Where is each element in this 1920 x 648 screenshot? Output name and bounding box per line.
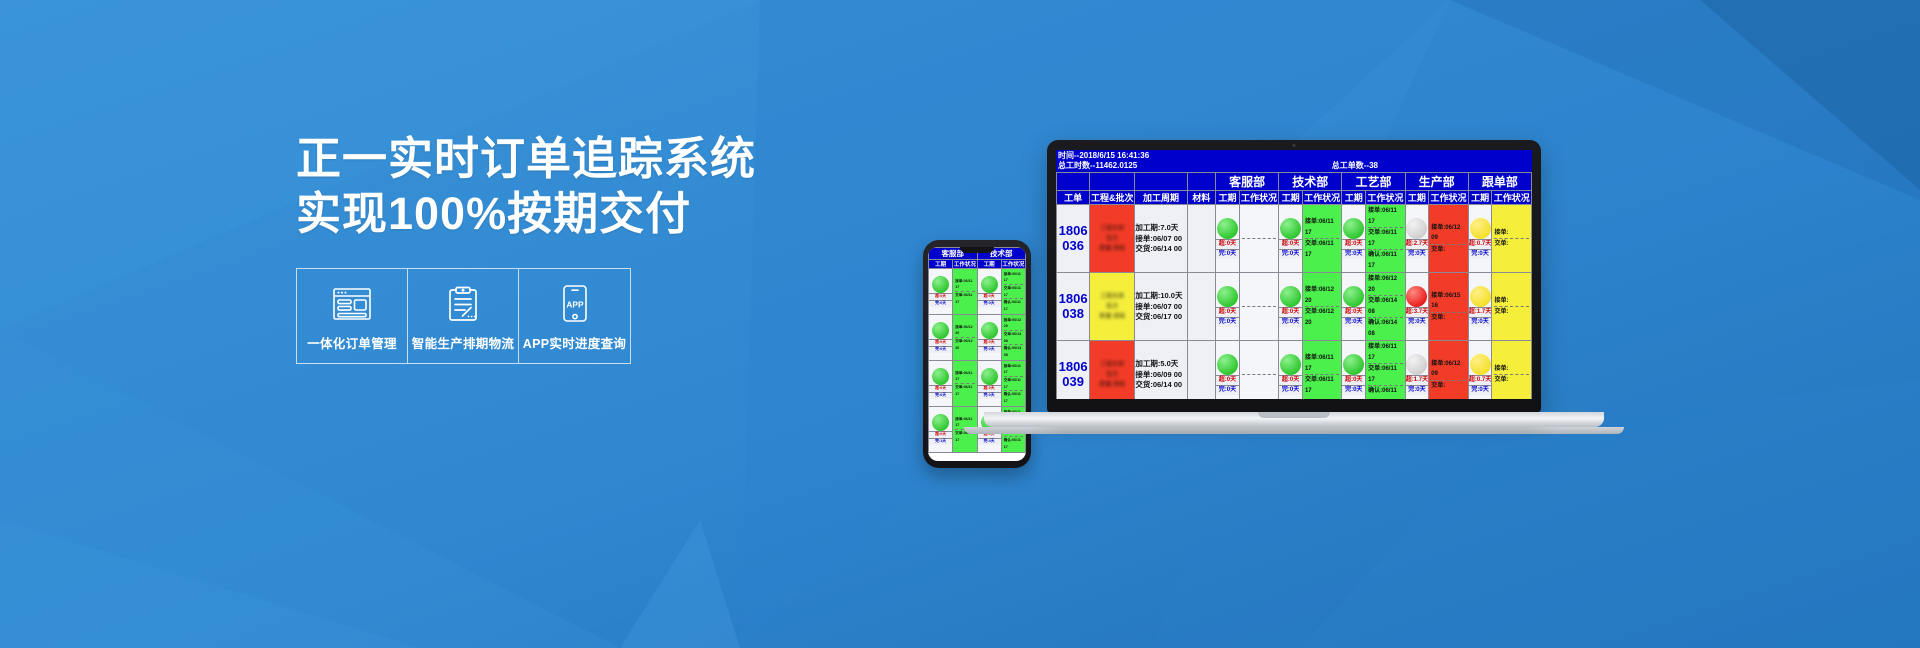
- topbar-total-orders: 总工单数--38: [1332, 161, 1530, 171]
- overdue-label: 超:0天: [1342, 239, 1365, 249]
- status-log: [1240, 295, 1278, 319]
- status-log: [1240, 363, 1278, 387]
- dept-status-cell-生产部[interactable]: 接单:06/12 09交单:: [1429, 341, 1468, 399]
- phone-complete-label: 完:0天: [978, 346, 1001, 353]
- cycle-line: 交货:06/14 00: [1135, 380, 1186, 391]
- phone-overdue-label: 超:0天: [978, 385, 1001, 392]
- log-line: 接单:06/11 17: [955, 278, 974, 292]
- project-blurred-text: 工程名称批次数量 规格: [1090, 224, 1134, 255]
- log-line: 接单:: [1494, 364, 1529, 376]
- status-indicator: [1342, 354, 1365, 375]
- log-line: 交单:06/14 08: [1368, 296, 1402, 318]
- duration-stack: 超:1.7天完:0天: [1406, 354, 1429, 395]
- phone-status-indicator: [978, 322, 1001, 339]
- status-dot-green: [1343, 354, 1364, 375]
- log-line: 接单:06/12 09: [1431, 223, 1465, 245]
- status-dot-grey: [1406, 218, 1427, 239]
- laptop-base: [984, 412, 1604, 427]
- processing-cycle-cell: 加工期:5.0天接单:06/09 00交货:06/14 00: [1135, 341, 1187, 399]
- duration-stack: 超:0天完:0天: [1342, 286, 1365, 327]
- dept-header-客服部: 客服部: [1216, 173, 1279, 191]
- status-indicator: [1216, 286, 1239, 307]
- log-line: 交单:06/11 17: [1004, 377, 1023, 391]
- phone-duration-cell-客服部[interactable]: 超:0天完:0天: [929, 269, 953, 315]
- overdue-label: 超:0.7天: [1469, 239, 1492, 249]
- sub-header-工作状况: 工作状况: [1302, 191, 1341, 205]
- dept-status-cell-技术部[interactable]: 接单:06/11 17交单:06/11 17: [1302, 341, 1341, 399]
- dept-duration-cell-技术部[interactable]: 超:0天完:0天: [1279, 205, 1303, 273]
- phone-app-icon: APP: [519, 283, 630, 325]
- sub-header-工作状况: 工作状况: [1429, 191, 1468, 205]
- sub-header-工作状况: 工作状况: [1366, 191, 1405, 205]
- base-col-spacer: [1057, 173, 1090, 191]
- dept-status-cell-客服部[interactable]: [1239, 273, 1278, 341]
- phone-overdue-label: 超:0天: [929, 385, 952, 392]
- log-line: [1242, 375, 1276, 386]
- status-indicator: [1406, 354, 1429, 375]
- phone-overdue-label: 超:0天: [978, 293, 1001, 300]
- complete-label: 完:0天: [1216, 249, 1239, 259]
- phone-duration-cell-技术部[interactable]: 超:0天完:0天: [977, 315, 1001, 361]
- status-log: 接单:交单:: [1492, 363, 1531, 387]
- phone-status-log: 接单:06/11 17交单:06/11 17确认:06/11 17: [1002, 362, 1025, 406]
- complete-label: 完:0天: [1406, 317, 1429, 327]
- status-indicator: [1469, 286, 1492, 307]
- complete-label: 完:0天: [1469, 317, 1492, 327]
- status-log: 接单:06/12 09交单:: [1429, 358, 1467, 393]
- topbar-total-hours: 总工时数--11462.0125: [1058, 161, 1332, 171]
- phone-status-cell-客服部[interactable]: 接单:06/11 17交单:06/11 17: [953, 269, 977, 315]
- dept-duration-cell-技术部[interactable]: 超:0天完:0天: [1279, 273, 1303, 341]
- phone-status-cell-技术部[interactable]: 接单:06/11 17交单:06/11 17确认:06/11 17: [1001, 269, 1025, 315]
- project-blurred-text: 工程名称批次数量 规格: [1090, 360, 1134, 391]
- phone-overdue-label: 超:0天: [929, 339, 952, 346]
- log-line: [1242, 239, 1276, 250]
- duration-stack: 超:0.7天完:0天: [1469, 218, 1492, 259]
- status-indicator: [1279, 286, 1302, 307]
- phone-duration-cell-客服部[interactable]: 超:0天完:0天: [929, 361, 953, 407]
- phone-status-cell-技术部[interactable]: 接单:06/12 20交单:06/14 08确认:06/14 08: [1001, 315, 1025, 361]
- dept-status-cell-跟单部[interactable]: 接单:交单:: [1492, 341, 1532, 399]
- status-log: 接单:06/11 17交单:06/11 17确认:06/11 17: [1366, 205, 1404, 272]
- laptop-base-notch: [1258, 412, 1330, 418]
- log-line: 接单:06/12 20: [1368, 274, 1402, 296]
- phone-complete-label: 完:0天: [929, 346, 952, 353]
- overdue-label: 超:1.7天: [1469, 307, 1492, 317]
- order-no-line: 1806: [1057, 224, 1089, 239]
- status-dot-green: [1280, 218, 1301, 239]
- duration-stack: 超:0天完:0天: [1342, 218, 1365, 259]
- laptop-mockup: 时间--2018/6/15 16:41:36 总工时数--11462.0125 …: [1047, 140, 1624, 434]
- overdue-label: 超:1.7天: [1406, 375, 1429, 385]
- feature-label: 智能生产排期物流: [408, 333, 518, 352]
- status-dot-green: [981, 322, 998, 339]
- phone-duration-stack: 超:0天完:0天: [929, 322, 952, 352]
- phone-duration-stack: 超:0天完:0天: [978, 276, 1001, 306]
- dept-status-cell-客服部[interactable]: [1239, 205, 1278, 273]
- log-line: 接单:06/11 17: [1368, 206, 1402, 228]
- col-header-材料: 材料: [1187, 191, 1215, 205]
- material-cell: [1187, 341, 1215, 399]
- device-mockups: 客服部 技术部 工期 工作状况 工期 工作状况 超:0天完:0天接单:06/11…: [0, 0, 1920, 648]
- col-header-工单: 工单: [1057, 191, 1090, 205]
- phone-status-cell-技术部[interactable]: 接单:06/11 17交单:06/11 17确认:06/11 17: [1001, 361, 1025, 407]
- log-line: 接单:06/12 09: [1431, 359, 1465, 381]
- duration-stack: 超:0天完:0天: [1216, 218, 1239, 259]
- phone-sub-header-duration: 工期: [977, 260, 1001, 269]
- feature-label: 一体化订单管理: [297, 333, 407, 352]
- phone-complete-label: 完:0天: [929, 300, 952, 307]
- phone-status-cell-客服部[interactable]: 接单:06/12 20交单:06/12 20: [953, 315, 977, 361]
- log-line: 交单:06/11 17: [1305, 239, 1339, 260]
- log-line: 接单:06/12 20: [1004, 317, 1023, 331]
- phone-status-indicator: [929, 368, 952, 385]
- status-dot-green: [1217, 354, 1238, 375]
- project-batch-cell: 工程名称批次数量 规格: [1090, 273, 1135, 341]
- project-batch-cell: 工程名称批次数量 规格: [1090, 205, 1135, 273]
- project-batch-cell: 工程名称批次数量 规格: [1090, 341, 1135, 399]
- status-indicator: [1469, 218, 1492, 239]
- dept-header-生产部: 生产部: [1405, 173, 1468, 191]
- status-log: 接单:06/12 20交单:06/12 20: [1303, 284, 1341, 329]
- log-line: 接单:06/15 16: [1431, 291, 1465, 313]
- overdue-label: 超:0天: [1342, 375, 1365, 385]
- topbar-time: 时间--2018/6/15 16:41:36: [1058, 151, 1332, 161]
- phone-notch: [960, 247, 994, 253]
- status-indicator: [1469, 354, 1492, 375]
- dashboard-table-body: 1806036工程名称批次数量 规格加工期:7.0天接单:06/07 00交货:…: [1057, 205, 1532, 399]
- phone-overdue-label: 超:0天: [929, 293, 952, 300]
- dept-duration-cell-跟单部[interactable]: 超:0.7天完:0天: [1468, 341, 1492, 399]
- status-indicator: [1406, 218, 1429, 239]
- status-dot-green: [981, 368, 998, 385]
- log-line: 确认:06/11 17: [1368, 250, 1402, 271]
- feature-production-logistics[interactable]: 智能生产排期物流: [408, 269, 519, 363]
- svg-text:APP: APP: [566, 300, 584, 310]
- order-number-cell: 1806038: [1057, 273, 1090, 341]
- complete-label: 完:0天: [1279, 385, 1302, 395]
- status-log: 接单:06/11 17交单:06/11 17确认:06/11 17: [1366, 341, 1404, 399]
- log-line: 交单:: [1494, 375, 1529, 386]
- phone-status-indicator: [929, 276, 952, 293]
- phone-table-row[interactable]: 超:0天完:0天接单:06/12 20交单:06/12 20超:0天完:0天接单…: [929, 315, 1026, 361]
- table-row[interactable]: 1806036工程名称批次数量 规格加工期:7.0天接单:06/07 00交货:…: [1057, 205, 1532, 273]
- cycle-line: 接单:06/07 00: [1135, 302, 1186, 313]
- dept-status-cell-生产部[interactable]: 接单:06/15 16交单:: [1429, 273, 1468, 341]
- hero-copy: 正一实时订单追踪系统 实现100%按期交付 一体化订单管理: [296, 132, 916, 364]
- log-line: 确认:06/14 08: [1004, 345, 1023, 358]
- material-cell: [1187, 273, 1215, 341]
- table-row[interactable]: 1806039工程名称批次数量 规格加工期:5.0天接单:06/09 00交货:…: [1057, 341, 1532, 399]
- phone-duration-stack: 超:0天完:0天: [978, 322, 1001, 352]
- status-dot-yellow: [1470, 218, 1491, 239]
- complete-label: 完:0天: [1406, 249, 1429, 259]
- status-log: 接单:06/11 17交单:06/11 17: [1303, 216, 1341, 261]
- log-line: 确认:06/11 17: [1368, 386, 1402, 399]
- phone-duration-cell-技术部[interactable]: 超:0天完:0天: [977, 269, 1001, 315]
- status-dot-green: [932, 368, 949, 385]
- phone-sub-header-row: 工期 工作状况 工期 工作状况: [929, 260, 1026, 269]
- dept-duration-cell-技术部[interactable]: 超:0天完:0天: [1279, 341, 1303, 399]
- feature-label: APP实时进度查询: [519, 333, 630, 352]
- dept-duration-cell-跟单部[interactable]: 超:0.7天完:0天: [1468, 205, 1492, 273]
- dept-status-cell-跟单部[interactable]: 接单:交单:: [1492, 205, 1532, 273]
- dept-duration-cell-客服部[interactable]: 超:0天完:0天: [1216, 205, 1240, 273]
- status-dot-green: [932, 322, 949, 339]
- phone-duration-cell-客服部[interactable]: 超:0天完:0天: [929, 315, 953, 361]
- order-no-line: 1806: [1057, 360, 1089, 375]
- status-dot-grey: [1406, 354, 1427, 375]
- sub-header-工期: 工期: [1342, 191, 1366, 205]
- overdue-label: 超:0天: [1279, 307, 1302, 317]
- dept-status-cell-技术部[interactable]: 接单:06/12 20交单:06/12 20: [1302, 273, 1341, 341]
- log-line: 接单:06/11 17: [1305, 353, 1339, 375]
- status-dot-red: [1406, 286, 1427, 307]
- status-dot-green: [1343, 218, 1364, 239]
- status-log: 接单:06/11 17交单:06/11 17: [1303, 352, 1341, 397]
- order-no-line: 1806: [1057, 292, 1089, 307]
- status-indicator: [1216, 354, 1239, 375]
- complete-label: 完:0天: [1216, 385, 1239, 395]
- dept-duration-cell-工艺部[interactable]: 超:0天完:0天: [1342, 273, 1366, 341]
- log-line: 接单:: [1494, 296, 1529, 308]
- dept-status-cell-工艺部[interactable]: 接单:06/12 20交单:06/14 08确认:06/14 08: [1366, 273, 1405, 341]
- order-number-cell: 1806039: [1057, 341, 1090, 399]
- status-indicator: [1279, 354, 1302, 375]
- log-line: 交单:06/11 17: [1004, 285, 1023, 299]
- phone-complete-label: 完:0天: [978, 392, 1001, 399]
- dept-status-cell-客服部[interactable]: [1239, 341, 1278, 399]
- dept-header-工艺部: 工艺部: [1342, 173, 1405, 191]
- duration-stack: 超:1.7天完:0天: [1469, 286, 1492, 327]
- phone-sub-header-duration: 工期: [929, 260, 953, 269]
- status-log: 接单:交单:: [1492, 295, 1531, 319]
- log-line: 交单:06/11 17: [1368, 364, 1402, 386]
- material-cell: [1187, 205, 1215, 273]
- overdue-label: 超:0天: [1216, 239, 1239, 249]
- phone-overdue-label: 超:0天: [978, 339, 1001, 346]
- sub-header-工作状况: 工作状况: [1239, 191, 1278, 205]
- complete-label: 完:0天: [1342, 385, 1365, 395]
- phone-status-log: 接单:06/11 17交单:06/11 17确认:06/11 17: [1002, 270, 1025, 314]
- base-col-spacer: [1187, 173, 1215, 191]
- phone-duration-cell-客服部[interactable]: 超:0天完:1天: [929, 407, 953, 453]
- sub-header-工期: 工期: [1216, 191, 1240, 205]
- clipboard-pen-icon: [408, 283, 518, 325]
- log-line: [1242, 296, 1276, 308]
- duration-stack: 超:0天完:0天: [1216, 354, 1239, 395]
- status-dot-green: [932, 276, 949, 293]
- log-line: 交单:: [1494, 307, 1529, 318]
- phone-duration-stack: 超:0天完:0天: [929, 368, 952, 398]
- log-line: 接单:06/11 17: [1004, 271, 1023, 285]
- log-line: [1242, 364, 1276, 376]
- log-line: 接单:06/11 17: [955, 370, 974, 384]
- phone-status-log: 接单:06/12 20交单:06/12 20: [953, 323, 976, 353]
- dashboard-table-head: 客服部技术部工艺部生产部跟单部工单工程&批次加工周期材料工期工作状况工期工作状况…: [1057, 173, 1532, 205]
- status-dot-green: [981, 276, 998, 293]
- overdue-label: 超:0天: [1342, 307, 1365, 317]
- log-line: 接单:: [1494, 228, 1529, 240]
- col-header-工程&批次: 工程&批次: [1090, 191, 1135, 205]
- complete-label: 完:0天: [1279, 317, 1302, 327]
- complete-label: 完:0天: [1342, 249, 1365, 259]
- dept-duration-cell-生产部[interactable]: 超:1.7天完:0天: [1405, 341, 1429, 399]
- status-dot-green: [1217, 218, 1238, 239]
- phone-status-indicator: [978, 276, 1001, 293]
- log-line: 交单:06/11 17: [1368, 228, 1402, 250]
- dept-duration-cell-工艺部[interactable]: 超:0天完:0天: [1342, 341, 1366, 399]
- dept-duration-cell-工艺部[interactable]: 超:0天完:0天: [1342, 205, 1366, 273]
- phone-table-row[interactable]: 超:0天完:0天接单:06/11 17交单:06/11 17超:0天完:0天接单…: [929, 269, 1026, 315]
- dept-duration-cell-客服部[interactable]: 超:0天完:0天: [1216, 341, 1240, 399]
- complete-label: 完:0天: [1216, 317, 1239, 327]
- topbar-spacer: [1332, 151, 1530, 161]
- col-header-加工周期: 加工周期: [1135, 191, 1187, 205]
- complete-label: 完:0天: [1406, 385, 1429, 395]
- dashboard-table: 客服部技术部工艺部生产部跟单部工单工程&批次加工周期材料工期工作状况工期工作状况…: [1056, 172, 1532, 399]
- log-line: [1242, 307, 1276, 318]
- dept-duration-cell-生产部[interactable]: 超:2.7天完:0天: [1405, 205, 1429, 273]
- sub-header-row: 工单工程&批次加工周期材料工期工作状况工期工作状况工期工作状况工期工作状况工期工…: [1057, 191, 1532, 205]
- status-dot-yellow: [1470, 286, 1491, 307]
- headline-line-2: 实现100%按期交付: [296, 187, 916, 242]
- cycle-line: 加工期:5.0天: [1135, 359, 1186, 370]
- phone-table-row[interactable]: 超:0天完:0天接单:06/11 17交单:06/11 17超:0天完:0天接单…: [929, 361, 1026, 407]
- table-row[interactable]: 1806038工程名称批次数量 规格加工期:10.0天接单:06/07 00交货…: [1057, 273, 1532, 341]
- phone-status-log: 接单:06/11 17交单:06/11 17: [953, 277, 976, 307]
- feature-order-management[interactable]: 一体化订单管理: [297, 269, 408, 363]
- webcam-icon: [1293, 144, 1296, 147]
- overdue-label: 超:3.7天: [1406, 307, 1429, 317]
- phone-status-indicator: [929, 322, 952, 339]
- phone-duration-stack: 超:0天完:1天: [929, 414, 952, 444]
- log-line: 确认:06/11 17: [1004, 437, 1023, 450]
- dept-duration-cell-客服部[interactable]: 超:0天完:0天: [1216, 273, 1240, 341]
- status-dot-green: [1280, 286, 1301, 307]
- complete-label: 完:0天: [1342, 317, 1365, 327]
- log-line: [1242, 228, 1276, 240]
- status-log: 接单:06/12 09交单:: [1429, 222, 1467, 257]
- log-line: 接单:06/12 20: [1305, 285, 1339, 307]
- phone-sub-header-status: 工作状况: [953, 260, 977, 269]
- dept-status-cell-跟单部[interactable]: 接单:交单:: [1492, 273, 1532, 341]
- sub-header-工期: 工期: [1468, 191, 1492, 205]
- headline-line-1: 正一实时订单追踪系统: [296, 132, 916, 187]
- laptop-lid: 时间--2018/6/15 16:41:36 总工时数--11462.0125 …: [1047, 140, 1541, 412]
- phone-status-log: 接单:06/11 17交单:06/11 17: [953, 369, 976, 399]
- cycle-line: 加工期:7.0天: [1135, 223, 1186, 234]
- duration-stack: 超:0.7天完:0天: [1469, 354, 1492, 395]
- processing-cycle-cell: 加工期:10.0天接单:06/07 00交货:06/17 00: [1135, 273, 1187, 341]
- dashboard-topbar: 时间--2018/6/15 16:41:36 总工时数--11462.0125 …: [1056, 150, 1532, 172]
- laptop-foot: [964, 427, 1624, 434]
- status-indicator: [1406, 286, 1429, 307]
- status-indicator: [1342, 286, 1365, 307]
- log-line: 接单:06/11 17: [1305, 217, 1339, 239]
- dept-duration-cell-跟单部[interactable]: 超:1.7天完:0天: [1468, 273, 1492, 341]
- complete-label: 完:0天: [1469, 385, 1492, 395]
- log-line: 确认:06/14 08: [1368, 318, 1402, 339]
- dept-header-row: 客服部技术部工艺部生产部跟单部: [1057, 173, 1532, 191]
- dept-status-cell-技术部[interactable]: 接单:06/11 17交单:06/11 17: [1302, 205, 1341, 273]
- log-line: 交单:: [1431, 313, 1465, 324]
- status-indicator: [1342, 218, 1365, 239]
- log-line: 交单:: [1431, 245, 1465, 256]
- status-log: 接单:06/12 20交单:06/14 08确认:06/14 08: [1366, 273, 1404, 340]
- log-line: 确认:06/11 17: [1004, 299, 1023, 312]
- phone-status-cell-客服部[interactable]: 接单:06/11 17交单:06/11 17: [953, 361, 977, 407]
- status-log: 接单:交单:: [1492, 227, 1531, 251]
- log-line: 接单:06/11 17: [1004, 363, 1023, 377]
- phone-complete-label: 完:0天: [978, 300, 1001, 307]
- sub-header-工期: 工期: [1405, 191, 1429, 205]
- status-dot-green: [1280, 354, 1301, 375]
- cycle-line: 接单:06/09 00: [1135, 370, 1186, 381]
- cycle-line: 交货:06/17 00: [1135, 312, 1186, 323]
- laptop-screen[interactable]: 时间--2018/6/15 16:41:36 总工时数--11462.0125 …: [1056, 150, 1532, 399]
- status-dot-green: [1343, 286, 1364, 307]
- status-dot-green: [932, 414, 949, 431]
- duration-stack: 超:0天完:0天: [1342, 354, 1365, 395]
- duration-stack: 超:0天完:0天: [1279, 218, 1302, 259]
- log-line: 交单:06/14 08: [1004, 331, 1023, 345]
- log-line: 确认:06/11 17: [1004, 391, 1023, 404]
- phone-status-indicator: [929, 414, 952, 431]
- dept-status-cell-生产部[interactable]: 接单:06/12 09交单:: [1429, 205, 1468, 273]
- phone-complete-label: 完:1天: [929, 438, 952, 445]
- log-line: 交单:06/11 17: [955, 292, 974, 305]
- overdue-label: 超:0天: [1279, 375, 1302, 385]
- dept-status-cell-工艺部[interactable]: 接单:06/11 17交单:06/11 17确认:06/11 17: [1366, 341, 1405, 399]
- overdue-label: 超:0天: [1216, 375, 1239, 385]
- order-no-line: 039: [1057, 375, 1089, 390]
- phone-overdue-label: 超:0天: [929, 431, 952, 438]
- order-no-line: 038: [1057, 307, 1089, 322]
- overdue-label: 超:0天: [1216, 307, 1239, 317]
- dept-duration-cell-生产部[interactable]: 超:3.7天完:0天: [1405, 273, 1429, 341]
- phone-duration-cell-技术部[interactable]: 超:0天完:0天: [977, 361, 1001, 407]
- status-dot-green: [1217, 286, 1238, 307]
- complete-label: 完:0天: [1279, 249, 1302, 259]
- sub-header-工作状况: 工作状况: [1492, 191, 1532, 205]
- overdue-label: 超:2.7天: [1406, 239, 1429, 249]
- phone-status-indicator: [978, 368, 1001, 385]
- dashboard-window-icon: [297, 283, 407, 325]
- phone-complete-label: 完:4天: [978, 438, 1001, 445]
- processing-cycle-cell: 加工期:7.0天接单:06/07 00交货:06/14 00: [1135, 205, 1187, 273]
- log-line: 交单:06/11 17: [1305, 375, 1339, 396]
- overdue-label: 超:0.7天: [1469, 375, 1492, 385]
- base-col-spacer: [1090, 173, 1135, 191]
- status-log: 接单:06/15 16交单:: [1429, 290, 1467, 325]
- dept-status-cell-工艺部[interactable]: 接单:06/11 17交单:06/11 17确认:06/11 17: [1366, 205, 1405, 273]
- log-line: 交单:: [1431, 381, 1465, 392]
- dept-header-跟单部: 跟单部: [1468, 173, 1531, 191]
- phone-sub-header-status: 工作状况: [1001, 260, 1025, 269]
- phone-duration-stack: 超:0天完:0天: [978, 368, 1001, 398]
- log-line: 接单:06/11 17: [1368, 342, 1402, 364]
- cycle-line: 接单:06/07 00: [1135, 234, 1186, 245]
- feature-app-progress[interactable]: APP APP实时进度查询: [519, 269, 630, 363]
- status-log: [1240, 227, 1278, 251]
- log-line: 交单:06/11 17: [955, 384, 974, 397]
- duration-stack: 超:0天完:0天: [1279, 286, 1302, 327]
- order-number-cell: 1806036: [1057, 205, 1090, 273]
- status-indicator: [1216, 218, 1239, 239]
- log-line: 交单:06/12 20: [955, 338, 974, 351]
- log-line: 交单:06/12 20: [1305, 307, 1339, 328]
